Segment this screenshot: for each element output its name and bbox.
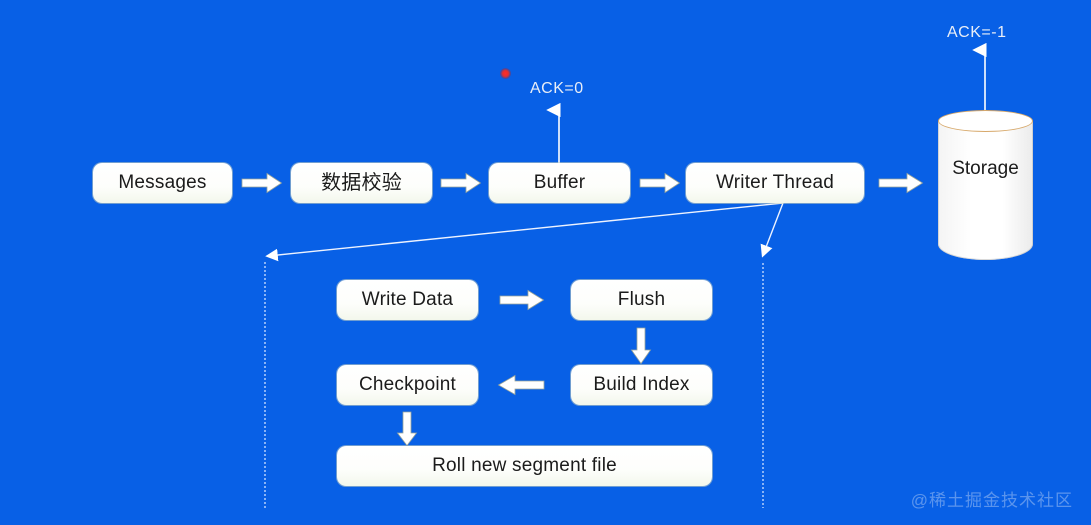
ack-zero-label: ACK=0 xyxy=(530,80,584,98)
node-writer-thread[interactable]: Writer Thread xyxy=(686,163,864,203)
arrow-build-index-to-checkpoint xyxy=(498,375,544,395)
writer-expand-right-arrow xyxy=(763,203,783,255)
cylinder-top-ellipse xyxy=(938,110,1033,132)
ack-minus-one-label: ACK=-1 xyxy=(947,24,1006,42)
arrow-buffer-to-writer-thread xyxy=(640,173,680,193)
arrow-data-check-to-buffer xyxy=(441,173,481,193)
node-messages[interactable]: Messages xyxy=(93,163,232,203)
node-write-data[interactable]: Write Data xyxy=(337,280,478,320)
node-flush[interactable]: Flush xyxy=(571,280,712,320)
arrow-messages-to-data-check xyxy=(242,173,282,193)
node-build-index[interactable]: Build Index xyxy=(571,365,712,405)
watermark: @稀土掘金技术社区 xyxy=(911,486,1073,511)
node-buffer[interactable]: Buffer xyxy=(489,163,630,203)
arrow-checkpoint-to-roll-segment xyxy=(397,412,417,446)
arrow-writer-thread-to-storage xyxy=(879,173,923,193)
writer-expand-left-arrow xyxy=(268,203,783,256)
cylinder-body xyxy=(938,121,1033,260)
node-roll-new-segment-file[interactable]: Roll new segment file xyxy=(337,446,712,486)
arrow-write-data-to-flush xyxy=(500,290,544,310)
node-checkpoint[interactable]: Checkpoint xyxy=(337,365,478,405)
diagram-canvas: Messages 数据校验 Buffer Writer Thread Write… xyxy=(0,0,1091,525)
storage-label: Storage xyxy=(942,158,1029,180)
arrow-flush-to-build-index xyxy=(631,328,651,364)
node-data-check[interactable]: 数据校验 xyxy=(291,163,432,203)
storage-cylinder[interactable]: Storage xyxy=(938,110,1033,260)
red-marker-dot xyxy=(500,68,511,79)
